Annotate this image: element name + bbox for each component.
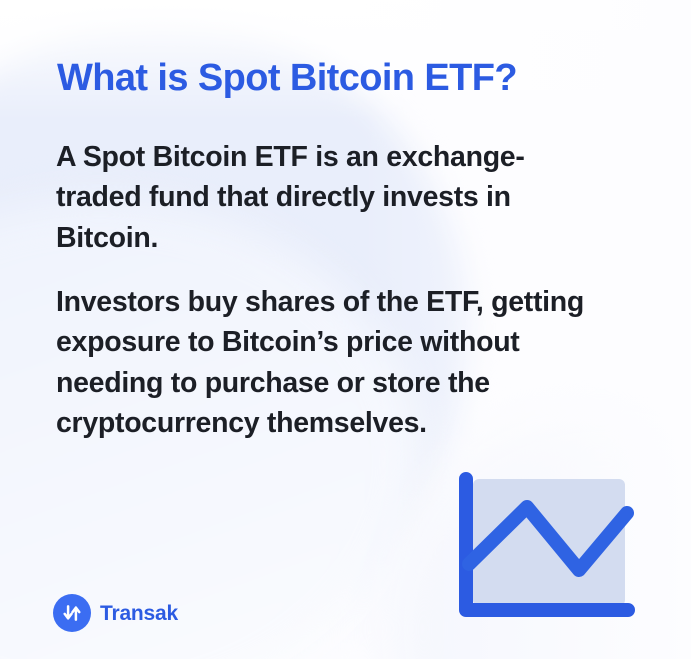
info-card: What is Spot Bitcoin ETF? A Spot Bitcoin… [0, 0, 691, 659]
page-title: What is Spot Bitcoin ETF? [57, 58, 657, 100]
brand-lockup: Transak [53, 594, 178, 632]
brand-wordmark: Transak [100, 603, 178, 624]
up-arrow-icon [73, 608, 80, 620]
transak-logo-icon [53, 594, 91, 632]
body-paragraph-2: Investors buy shares of the ETF, getting… [56, 282, 601, 444]
line-chart-illustration [455, 465, 645, 625]
body-paragraph-1: A Spot Bitcoin ETF is an exchange-traded… [56, 137, 601, 258]
down-arrow-icon [65, 606, 72, 618]
